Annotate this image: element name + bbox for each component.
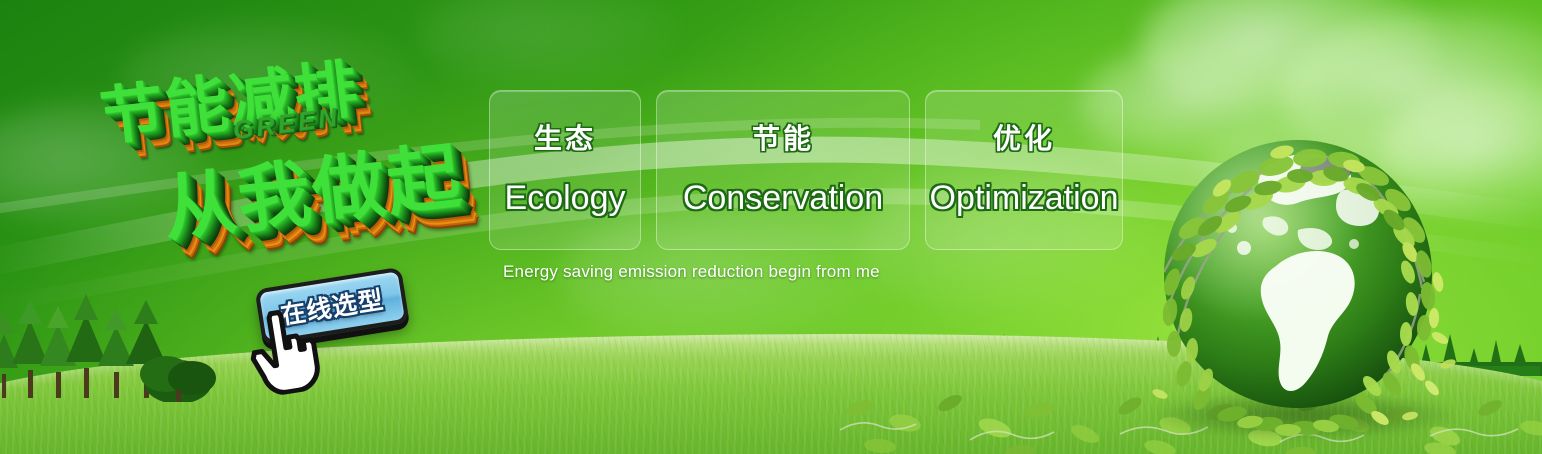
feature-card-conservation-cn: 节能 xyxy=(752,117,814,157)
pointing-hand-cursor-icon xyxy=(240,303,327,400)
feature-card-ecology[interactable]: 生态 Ecology xyxy=(489,90,641,250)
headline-3d: 节能减排 GREEN 从我做起 xyxy=(84,15,498,293)
feature-card-conservation[interactable]: 节能 Conservation xyxy=(656,90,910,250)
feature-cards: 生态 Ecology 节能 Conservation 优化 Optimizati… xyxy=(489,90,1123,250)
tagline: Energy saving emission reduction begin f… xyxy=(503,262,880,282)
leafy-globe-icon xyxy=(1148,132,1458,442)
feature-card-optimization[interactable]: 优化 Optimization xyxy=(925,90,1123,250)
eco-hero-banner: 节能减排 GREEN 从我做起 在线选型 生态 Ecology 节能 Conse… xyxy=(0,0,1542,454)
online-selection-cta-wrapper[interactable]: 在线选型 xyxy=(255,267,410,345)
feature-card-optimization-en: Optimization xyxy=(930,179,1119,218)
feature-card-ecology-cn: 生态 xyxy=(534,117,596,157)
feature-card-conservation-en: Conservation xyxy=(683,179,883,218)
feature-card-optimization-cn: 优化 xyxy=(993,117,1055,157)
pine-trees-icon xyxy=(0,294,220,402)
feature-card-ecology-en: Ecology xyxy=(505,179,626,218)
